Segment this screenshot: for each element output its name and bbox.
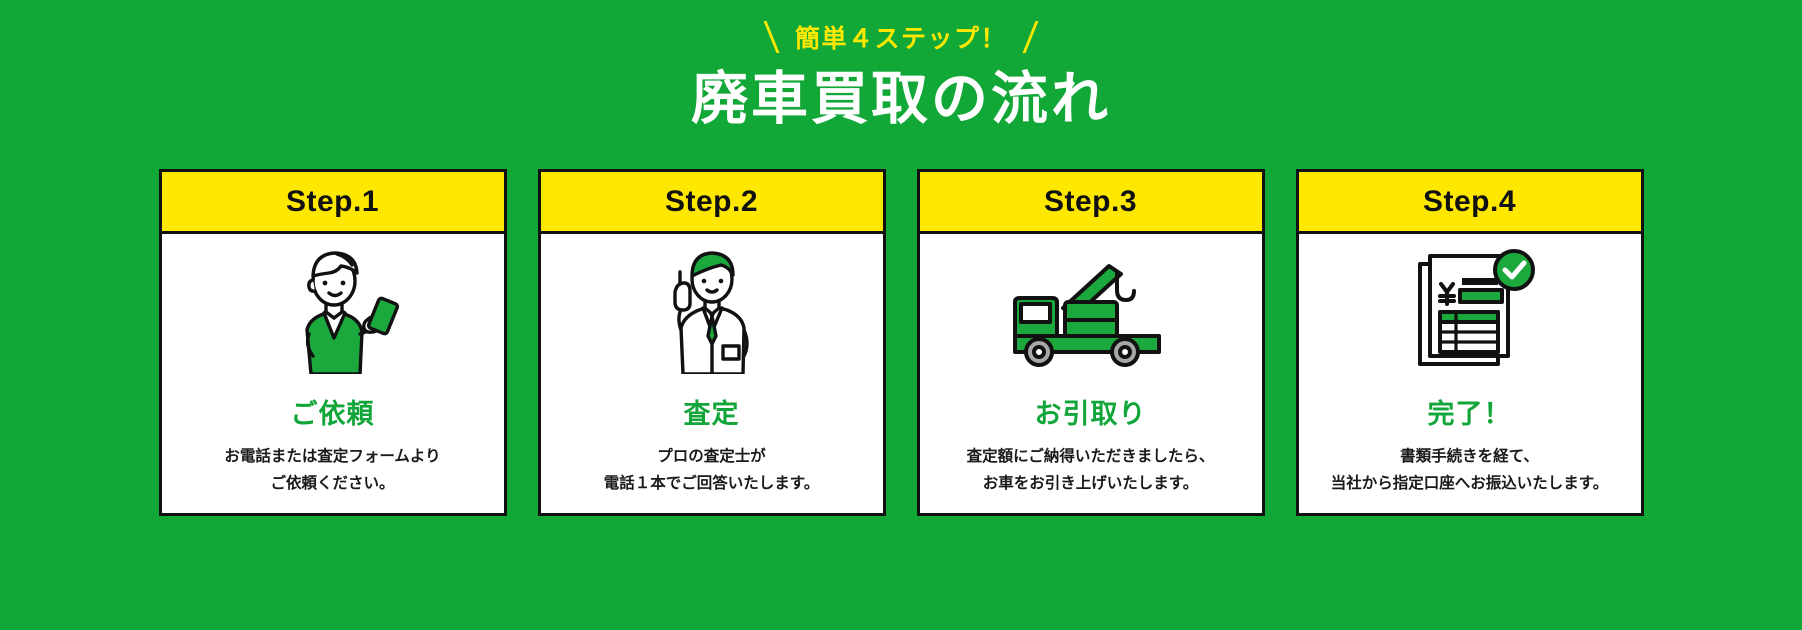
step-desc-4: 書類手続きを経て、 当社から指定口座へお振込いたします。: [1331, 443, 1608, 497]
tow-truck-icon: [930, 244, 1252, 376]
person-with-phone-icon: [172, 244, 494, 376]
step-flow-section: 簡単４ステップ！ 廃車買取の流れ Step.1: [0, 0, 1802, 630]
page-title: 廃車買取の流れ: [0, 68, 1802, 132]
step-title-3: お引取り: [1035, 392, 1147, 431]
step-badge-label: Step.4: [1423, 185, 1516, 219]
step-desc-2: プロの査定士が 電話１本でご回答いたします。: [604, 443, 819, 497]
step-badge-2: Step.2: [541, 172, 883, 234]
step-title-4: 完了！: [1428, 392, 1512, 431]
document-check-icon: [1309, 244, 1631, 376]
step-title-1: ご依頼: [291, 392, 375, 431]
eyebrow-row: 簡単４ステップ！: [0, 14, 1802, 60]
step-card-body-3: お引取り 査定額にご納得いただきましたら、 お車をお引き上げいたします。: [920, 234, 1262, 513]
step-card-body-2: 査定 プロの査定士が 電話１本でご回答いたします。: [541, 234, 883, 513]
step-card-body-1: ご依頼 お電話または査定フォームより ご依頼ください。: [162, 234, 504, 513]
step-card-body-4: 完了！ 書類手続きを経て、 当社から指定口座へお振込いたします。: [1299, 234, 1641, 513]
step-desc-3-line2: お車をお引き上げいたします。: [967, 470, 1215, 497]
slash-right-icon: [1023, 21, 1039, 53]
slash-left-icon: [764, 21, 780, 53]
step-card-3[interactable]: Step.3: [917, 169, 1265, 516]
step-card-4[interactable]: Step.4: [1296, 169, 1644, 516]
section-header: 簡単４ステップ！ 廃車買取の流れ: [0, 0, 1802, 132]
step-badge-label: Step.1: [286, 185, 379, 219]
step-desc-1-line1: お電話または査定フォームより: [224, 443, 440, 470]
step-badge-3: Step.3: [920, 172, 1262, 234]
step-desc-4-line1: 書類手続きを経て、: [1331, 443, 1608, 470]
appraiser-person-icon: [551, 244, 873, 376]
step-title-2: 査定: [684, 392, 740, 431]
step-desc-1-line2: ご依頼ください。: [224, 470, 440, 497]
step-desc-2-line1: プロの査定士が: [604, 443, 819, 470]
eyebrow-label: 簡単４ステップ！: [795, 19, 1007, 55]
step-badge-1: Step.1: [162, 172, 504, 234]
step-desc-3-line1: 査定額にご納得いただきましたら、: [967, 443, 1215, 470]
step-badge-4: Step.4: [1299, 172, 1641, 234]
step-desc-3: 査定額にご納得いただきましたら、 お車をお引き上げいたします。: [967, 443, 1215, 497]
step-badge-label: Step.3: [1044, 185, 1137, 219]
step-card-list: Step.1: [0, 169, 1802, 516]
step-desc-2-line2: 電話１本でご回答いたします。: [604, 470, 819, 497]
step-card-2[interactable]: Step.2: [538, 169, 886, 516]
step-card-1[interactable]: Step.1: [159, 169, 507, 516]
step-desc-1: お電話または査定フォームより ご依頼ください。: [224, 443, 440, 497]
step-badge-label: Step.2: [665, 185, 758, 219]
step-desc-4-line2: 当社から指定口座へお振込いたします。: [1331, 470, 1608, 497]
